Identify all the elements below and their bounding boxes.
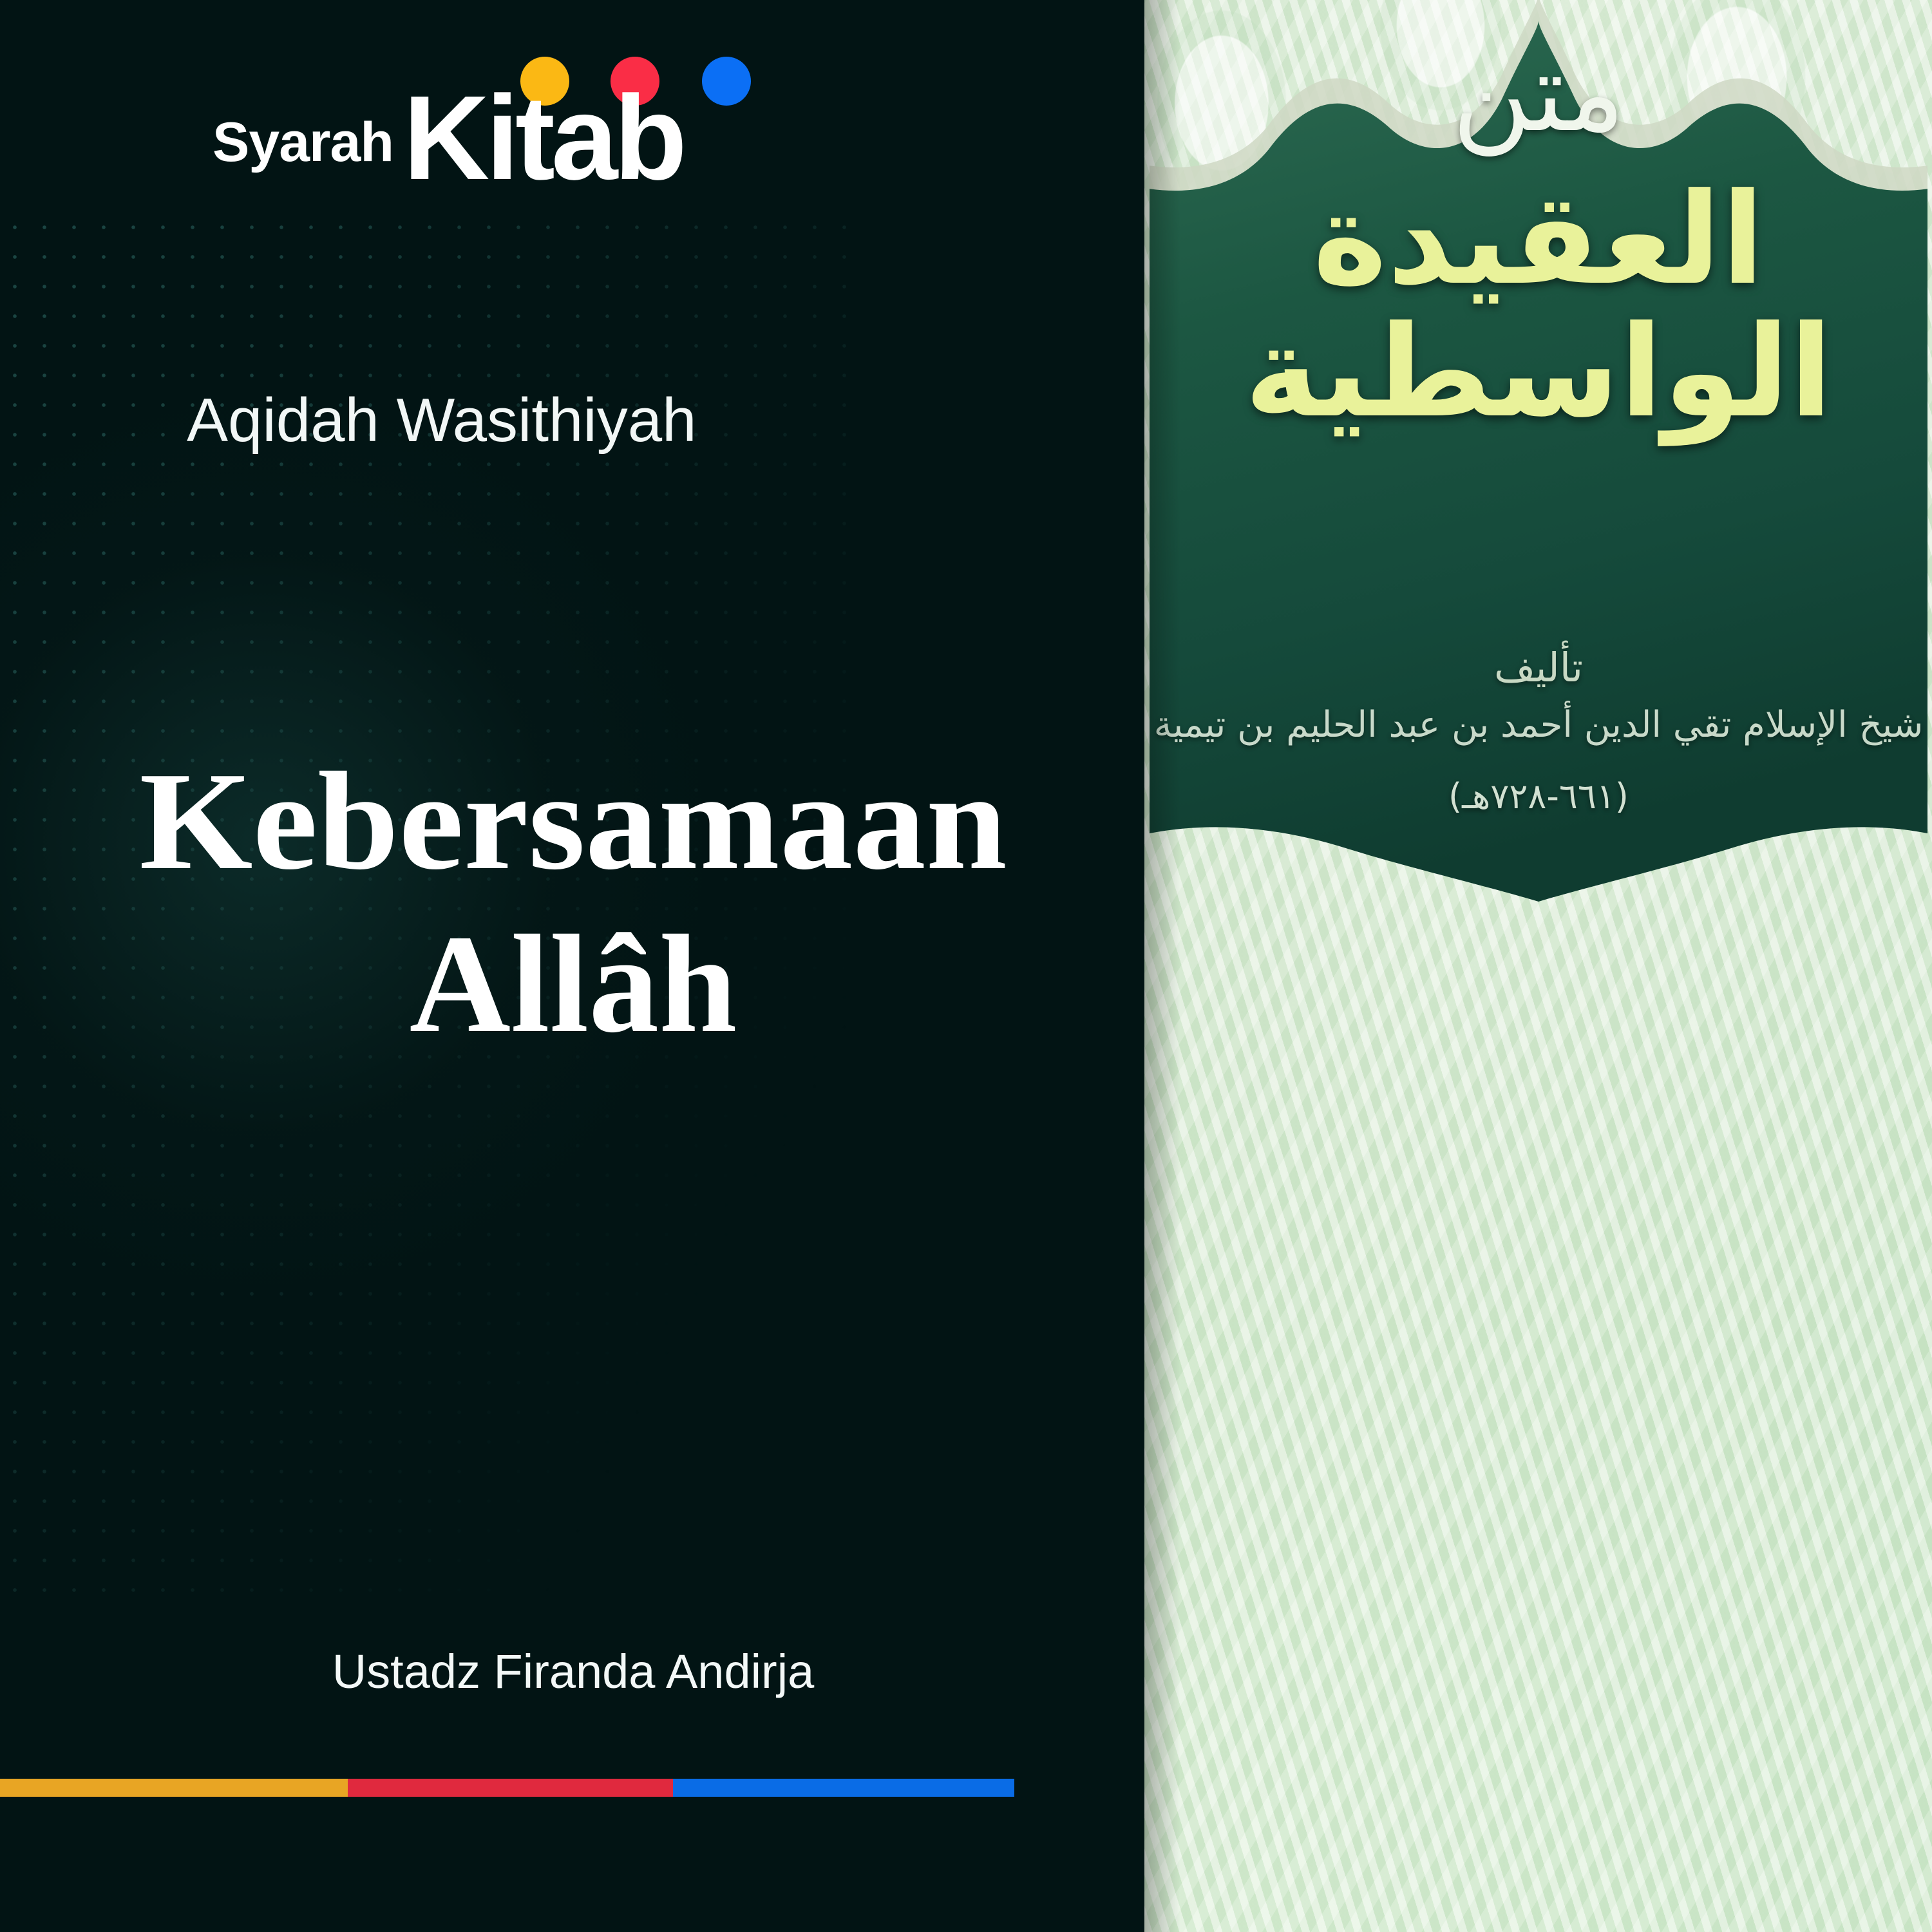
page-title-line-2: Allâh bbox=[84, 904, 1063, 1066]
book-cover-image: متن العقيدة الواسطية تأليف شيخ الإسلام ت… bbox=[1144, 0, 1932, 1932]
cover-title-arabic: العقيدة الواسطية bbox=[1150, 174, 1927, 439]
speaker-name: Ustadz Firanda Andirja bbox=[84, 1644, 1063, 1699]
cover-byline-label: تأليف bbox=[1150, 644, 1927, 691]
brand-logo[interactable]: Syarah Kitab bbox=[213, 32, 792, 200]
accent-segment-red bbox=[348, 1779, 673, 1797]
logo-text-syarah: Syarah bbox=[213, 115, 393, 170]
slide-canvas: Syarah Kitab Aqidah Wasithiyah Kebersama… bbox=[0, 0, 1932, 1932]
cover-author-arabic: شيخ الإسلام تقي الدين أحمد بن عبد الحليم… bbox=[1150, 702, 1927, 749]
cover-author-dates: (٦٦١-٧٢٨هـ) bbox=[1150, 776, 1927, 817]
series-kicker: Aqidah Wasithiyah bbox=[187, 386, 1056, 455]
accent-segment-yellow bbox=[0, 1779, 348, 1797]
cover-matn-text: متن bbox=[1150, 39, 1927, 147]
accent-bar bbox=[0, 1779, 1014, 1797]
logo-text-kitab: Kitab bbox=[403, 79, 683, 198]
accent-segment-blue bbox=[673, 1779, 1014, 1797]
left-content-panel: Syarah Kitab Aqidah Wasithiyah Kebersama… bbox=[0, 0, 1144, 1932]
page-title-line-1: Kebersamaan bbox=[64, 741, 1083, 904]
logo-wordmark: Syarah Kitab bbox=[213, 88, 792, 200]
page-title: Kebersamaan Allâh bbox=[84, 741, 1063, 1066]
cover-cartouche: متن العقيدة الواسطية تأليف شيخ الإسلام ت… bbox=[1150, 0, 1927, 902]
